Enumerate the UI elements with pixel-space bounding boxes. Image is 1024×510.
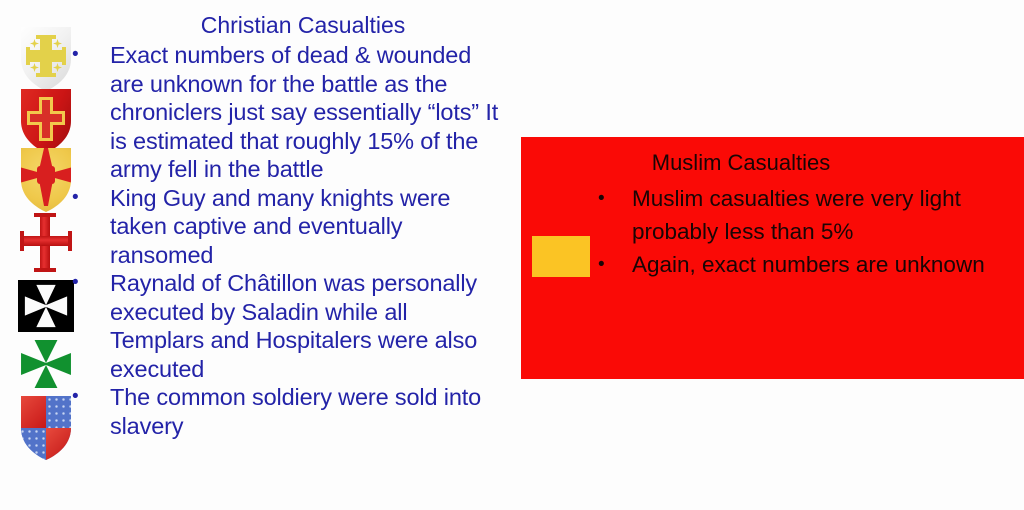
list-item: • Muslim casualties were very light prob… <box>594 182 1014 248</box>
bullet-marker: • <box>66 41 110 70</box>
list-item: • Raynald of Châtillon was personally ex… <box>66 269 506 383</box>
bullet-marker: • <box>66 269 110 298</box>
list-item: • Again, exact numbers are unknown <box>594 248 1014 281</box>
list-item: • King Guy and many knights were taken c… <box>66 184 506 270</box>
list-item: • Exact numbers of dead & wounded are un… <box>66 41 506 184</box>
muslim-casualties-panel: Muslim Casualties • Muslim casualties we… <box>521 137 1024 379</box>
christian-bullet-list: • Exact numbers of dead & wounded are un… <box>66 41 506 440</box>
muslim-casualties-title: Muslim Casualties <box>521 150 961 176</box>
yellow-swatch <box>532 236 590 277</box>
list-item-text: Again, exact numbers are unknown <box>632 248 1014 281</box>
list-item-text: Raynald of Châtillon was personally exec… <box>110 269 506 383</box>
list-item-text: Exact numbers of dead & wounded are unkn… <box>110 41 506 184</box>
christian-casualties-column: Christian Casualties • Exact numbers of … <box>0 0 512 510</box>
christian-casualties-title: Christian Casualties <box>108 11 498 39</box>
muslim-bullet-list: • Muslim casualties were very light prob… <box>594 182 1014 281</box>
bullet-marker: • <box>66 184 110 213</box>
bullet-marker: • <box>594 248 632 281</box>
bullet-marker: • <box>594 182 632 215</box>
list-item-text: The common soldiery were sold into slave… <box>110 383 506 440</box>
bullet-marker: • <box>66 383 110 412</box>
list-item: • The common soldiery were sold into sla… <box>66 383 506 440</box>
list-item-text: Muslim casualties were very light probab… <box>632 182 1014 248</box>
list-item-text: King Guy and many knights were taken cap… <box>110 184 506 270</box>
